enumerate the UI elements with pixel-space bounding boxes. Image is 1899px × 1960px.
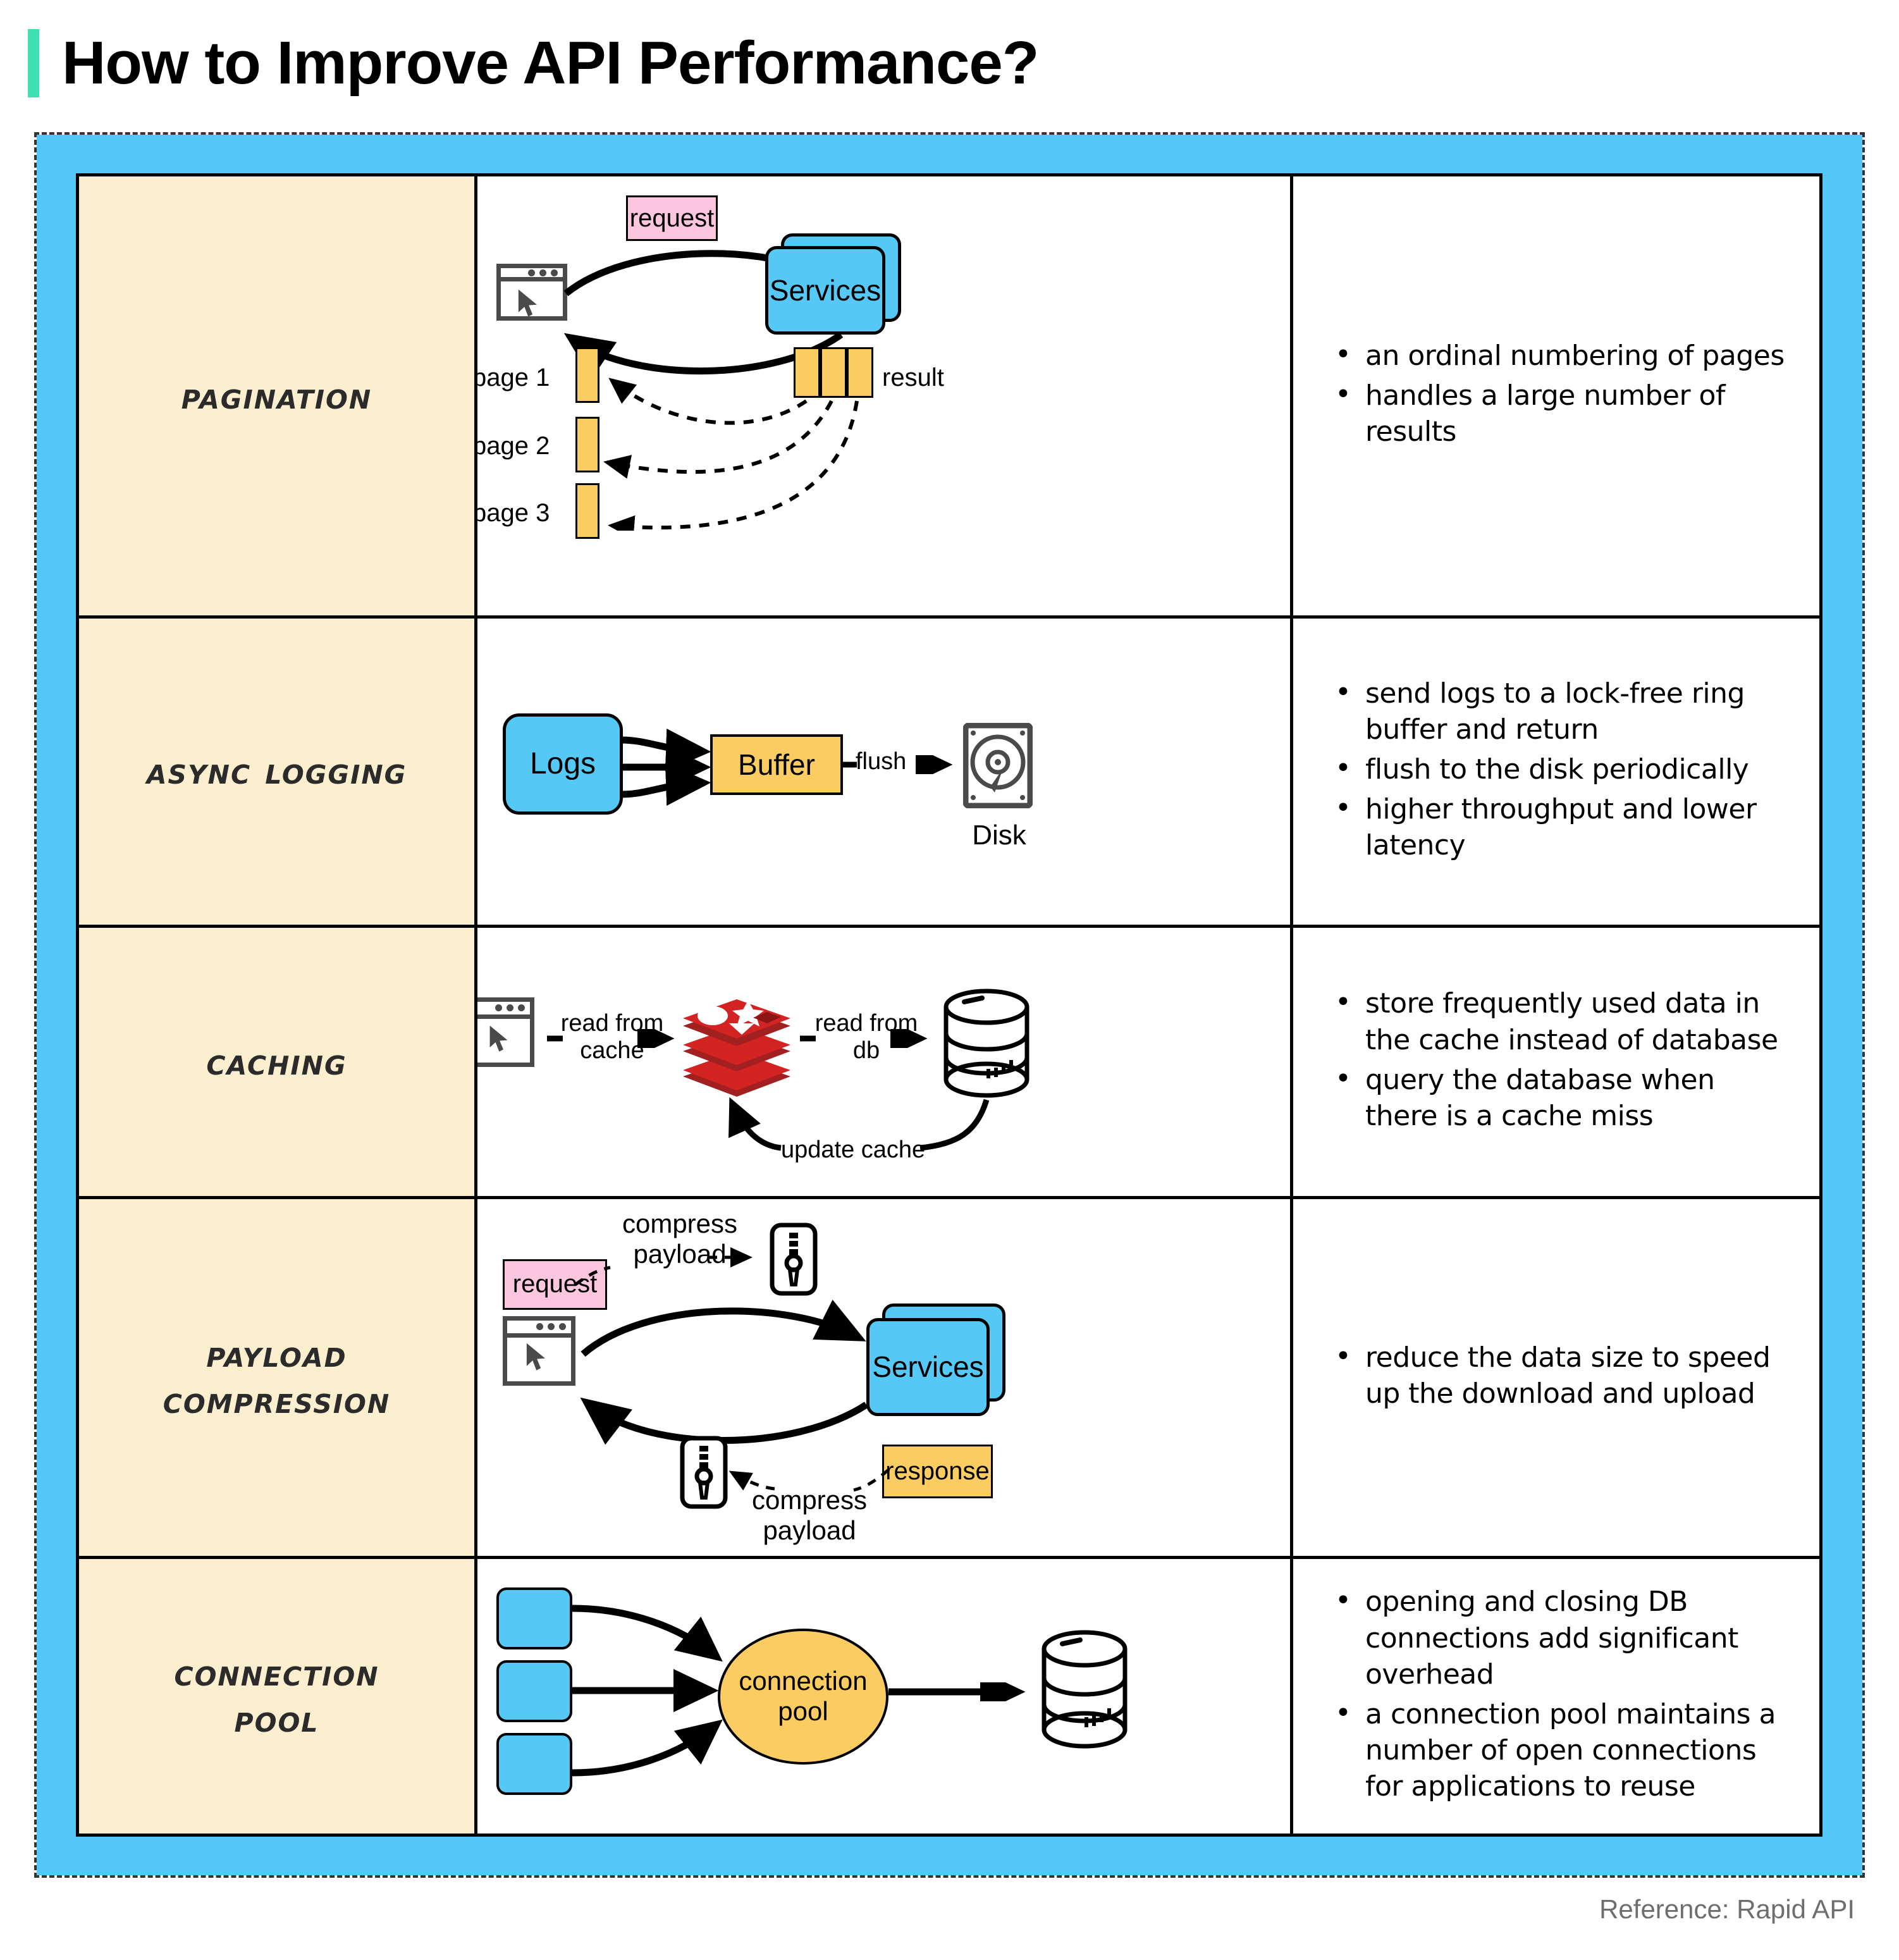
page-1-label: page 1 <box>477 364 550 392</box>
table-row: Connection Pool <box>79 1559 1819 1834</box>
list-item: handles a large number of results <box>1331 378 1794 450</box>
list-item: query the database when there is a cache… <box>1331 1062 1794 1134</box>
request-response-arrows <box>569 1297 904 1455</box>
bullets-async-logging: send logs to a lock-free ring buffer and… <box>1293 619 1819 925</box>
browser-dot-icon <box>518 1004 525 1011</box>
bullet-list: an ordinal numbering of pages handles a … <box>1293 338 1819 454</box>
list-item: opening and closing DB connections add s… <box>1331 1584 1794 1692</box>
bullet-list: send logs to a lock-free ring buffer and… <box>1293 675 1819 868</box>
title-accent-bar <box>28 29 39 97</box>
row-label-line-2: Compression <box>163 1379 390 1422</box>
update-cache-label: update cache <box>781 1137 925 1164</box>
browser-dot-icon <box>507 1004 513 1011</box>
list-item: an ordinal numbering of pages <box>1331 338 1794 374</box>
page-3-label: page 3 <box>477 499 550 527</box>
reference-footer: Reference: Rapid API <box>1599 1894 1855 1925</box>
list-item: store frequently used data in the cache … <box>1331 985 1794 1057</box>
list-item: send logs to a lock-free ring buffer and… <box>1331 675 1794 748</box>
techniques-table: Pagination request <box>79 176 1819 1834</box>
row-label-pagination: Pagination <box>79 176 477 615</box>
browser-titlebar <box>477 1002 530 1019</box>
result-to-page-arrows <box>566 341 895 531</box>
row-label-line-2: Pool <box>235 1698 319 1741</box>
services-node: Services <box>866 1318 990 1416</box>
row-label-line-1: Connection <box>174 1651 379 1694</box>
diagram-caching: read fromcache <box>477 928 1293 1196</box>
cursor-icon <box>516 288 543 319</box>
database-icon <box>939 988 1034 1099</box>
bullet-list: reduce the data size to speed up the dow… <box>1293 1340 1819 1415</box>
browser-dot-icon <box>539 269 546 276</box>
row-label-line-1: Payload <box>206 1333 347 1376</box>
browser-icon <box>477 997 534 1067</box>
browser-icon <box>503 1316 575 1386</box>
services-label: Services <box>872 1350 983 1384</box>
table-row: Payload Compression compresspayload requ… <box>79 1199 1819 1559</box>
buffer-node: Buffer <box>710 734 843 795</box>
services-label: Services <box>770 273 881 307</box>
client-node-2 <box>496 1660 572 1722</box>
flush-arrow <box>843 755 960 774</box>
read-cache-arrow <box>547 1029 680 1048</box>
page-title: How to Improve API Performance? <box>62 28 1038 98</box>
row-label-text: Connection Pool <box>174 1650 379 1742</box>
clients-to-pool-arrows <box>569 1597 740 1787</box>
list-item: flush to the disk periodically <box>1331 751 1794 787</box>
list-item: reduce the data size to speed up the dow… <box>1331 1340 1794 1412</box>
browser-dot-icon <box>528 269 535 276</box>
cursor-icon <box>524 1342 551 1372</box>
page-header: How to Improve API Performance? <box>0 0 1899 126</box>
row-label-async-logging: Async Logging <box>79 619 477 925</box>
page-2-label: page 2 <box>477 432 550 460</box>
blue-frame: Pagination request <box>37 135 1862 1875</box>
zip-file-icon <box>768 1221 819 1297</box>
list-item: a connection pool maintains a number of … <box>1331 1696 1794 1805</box>
row-label-text: Caching <box>206 1039 347 1085</box>
disk-label: Disk <box>958 820 1040 852</box>
infographic-page: How to Improve API Performance? Paginati… <box>0 0 1899 1960</box>
browser-dot-icon <box>536 1323 543 1330</box>
row-label-connection-pool: Connection Pool <box>79 1559 477 1834</box>
client-node-1 <box>496 1587 572 1649</box>
logs-label: Logs <box>530 746 596 781</box>
connection-pool-node: connectionpool <box>718 1629 888 1765</box>
table-row: Caching <box>79 928 1819 1199</box>
bullets-caching: store frequently used data in the cache … <box>1293 928 1819 1196</box>
connection-pool-label: connectionpool <box>739 1666 867 1727</box>
browser-titlebar <box>507 1321 571 1338</box>
diagram-pagination: request <box>477 176 1293 615</box>
bullets-payload-compression: reduce the data size to speed up the dow… <box>1293 1199 1819 1556</box>
request-tag: request <box>626 195 718 241</box>
cursor-icon <box>488 1025 513 1054</box>
redis-cache-icon <box>680 982 794 1102</box>
row-label-caching: Caching <box>79 928 477 1196</box>
bullets-pagination: an ordinal numbering of pages handles a … <box>1293 176 1819 615</box>
row-label-text: Async Logging <box>147 748 407 794</box>
table-row: Pagination request <box>79 176 1819 619</box>
logs-node: Logs <box>503 713 623 815</box>
buffer-label: Buffer <box>738 748 815 782</box>
database-icon <box>1037 1629 1132 1755</box>
list-item: higher throughput and lower latency <box>1331 791 1794 863</box>
bullet-list: opening and closing DB connections add s… <box>1293 1584 1819 1808</box>
diagram-connection-pool: connectionpool <box>477 1559 1293 1834</box>
browser-dot-icon <box>495 1004 502 1011</box>
bullet-list: store frequently used data in the cache … <box>1293 985 1819 1138</box>
row-label-payload-compression: Payload Compression <box>79 1199 477 1556</box>
content-frame: Pagination request <box>76 173 1822 1837</box>
read-db-arrow <box>800 1029 933 1048</box>
table-row: Async Logging Logs <box>79 619 1819 928</box>
diagram-async-logging: Logs <box>477 619 1293 925</box>
row-label-text: Payload Compression <box>163 1331 390 1423</box>
pool-to-db-arrow <box>888 1682 1034 1701</box>
request-compress-arrow <box>572 1224 781 1300</box>
services-node: Services <box>765 246 885 335</box>
browser-dot-icon <box>559 1323 566 1330</box>
bullets-connection-pool: opening and closing DB connections add s… <box>1293 1559 1819 1834</box>
browser-dot-icon <box>548 1323 555 1330</box>
client-node-3 <box>496 1733 572 1795</box>
diagram-payload-compression: compresspayload request <box>477 1199 1293 1556</box>
row-label-text: Pagination <box>181 373 372 419</box>
compress-payload-bottom-label: compresspayload <box>730 1485 888 1546</box>
disk-icon <box>963 723 1033 808</box>
